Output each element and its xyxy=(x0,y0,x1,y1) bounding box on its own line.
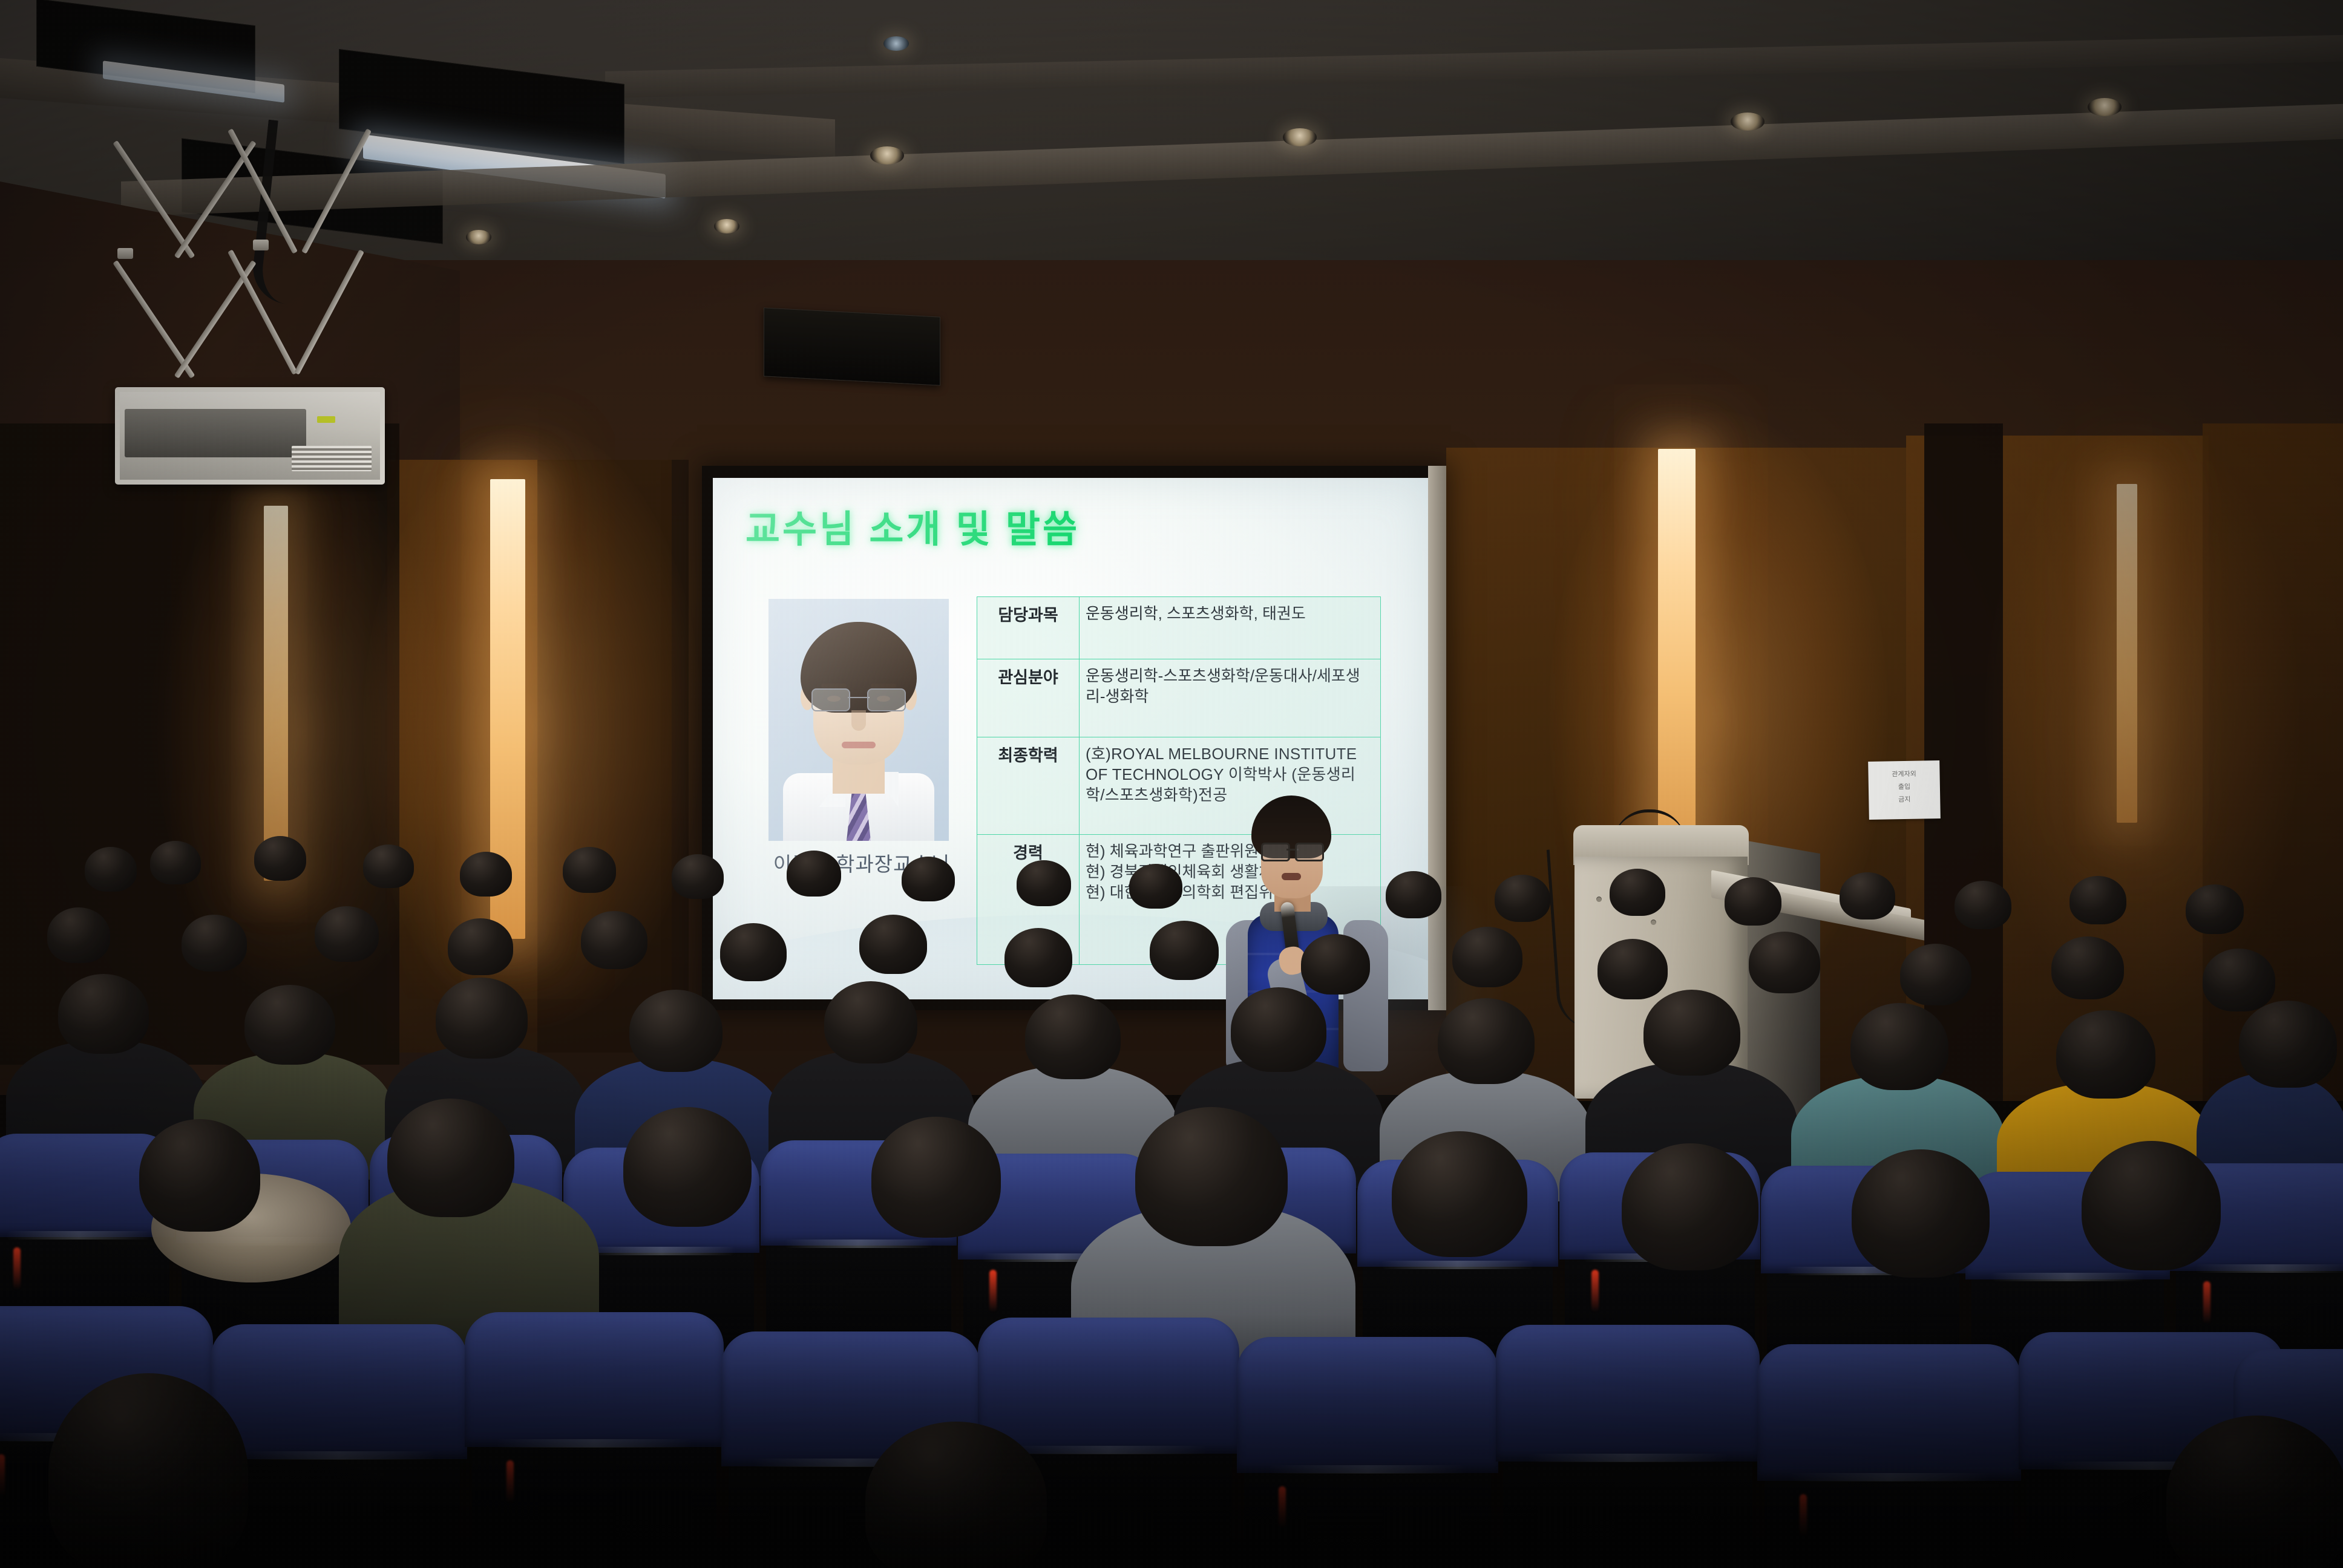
audience-head xyxy=(1597,939,1668,999)
recessed-downlight-icon xyxy=(1283,128,1317,146)
audience-head xyxy=(1749,932,1820,993)
projector-lens-housing xyxy=(125,409,306,457)
audience-head xyxy=(244,985,335,1065)
row-key: 담당과목 xyxy=(977,597,1080,659)
auditorium-seat[interactable] xyxy=(472,1325,716,1568)
audience-head xyxy=(85,847,137,892)
portrait-mouth xyxy=(842,742,876,748)
audience-head xyxy=(1129,864,1182,909)
audience-head xyxy=(1900,944,1971,1005)
recessed-downlight-icon xyxy=(714,219,739,234)
audience-head xyxy=(58,974,149,1054)
audience-head xyxy=(436,978,528,1059)
projector-status-led xyxy=(317,416,335,423)
audience-head xyxy=(2166,1416,2343,1568)
audience-head xyxy=(1495,875,1550,922)
audience-head xyxy=(720,923,787,981)
audience-head xyxy=(1955,881,2011,929)
audience-head xyxy=(1840,872,1895,920)
slide-title: 교수님 소개 및 말씀 xyxy=(745,498,1080,553)
audience-head xyxy=(448,918,513,975)
row-value: 운동생리학-스포츠생화학/운동대사/세포생리-생화학 xyxy=(1080,659,1381,737)
audience-head xyxy=(2056,1010,2155,1099)
audience-head xyxy=(460,852,512,897)
audience-head xyxy=(1438,998,1535,1084)
audience-head xyxy=(1386,871,1441,918)
recessed-downlight-icon xyxy=(883,36,909,51)
audience-head xyxy=(1231,987,1326,1072)
audience-head xyxy=(824,981,917,1063)
recessed-downlight-icon xyxy=(870,146,904,165)
row-key: 관심분야 xyxy=(977,659,1080,737)
audience xyxy=(0,756,2343,1568)
ceiling-beam xyxy=(605,35,2343,98)
audience-head xyxy=(2239,1001,2337,1088)
audience-head xyxy=(1622,1143,1758,1270)
audience-head xyxy=(315,906,379,962)
auditorium-seat[interactable] xyxy=(1244,1350,1491,1568)
audience-head xyxy=(623,1107,752,1227)
audience-head xyxy=(1725,877,1781,926)
audience-head xyxy=(1610,869,1665,916)
audience-head xyxy=(1017,860,1071,906)
projector-vent xyxy=(292,446,372,471)
audience-head xyxy=(1150,921,1219,980)
audience-head xyxy=(363,844,414,888)
audience-head xyxy=(2186,884,2244,934)
audience-head xyxy=(254,836,306,881)
projector-body xyxy=(115,387,385,485)
audience-head xyxy=(902,857,955,901)
audience-head xyxy=(48,1373,248,1568)
audience-head xyxy=(2082,1141,2221,1270)
audience-head xyxy=(387,1099,514,1217)
audience-head xyxy=(150,841,201,884)
audience-head xyxy=(1643,990,1740,1076)
ceiling-projector xyxy=(109,121,448,496)
auditorium-scene: 교수님 소개 및 말씀 xyxy=(0,0,2343,1568)
portrait-glasses-icon xyxy=(811,688,906,710)
recessed-downlight-icon xyxy=(466,230,491,244)
audience-head xyxy=(139,1119,260,1232)
audience-head xyxy=(629,990,723,1072)
audience-head xyxy=(859,915,927,974)
portrait-nose xyxy=(851,710,866,731)
audience-head xyxy=(581,911,647,969)
recessed-downlight-icon xyxy=(1731,113,1765,131)
audience-head xyxy=(1301,934,1370,995)
audience-head xyxy=(1850,1003,1948,1090)
recessed-downlight-icon xyxy=(2088,98,2122,116)
audience-head xyxy=(1852,1149,1990,1278)
audience-head xyxy=(1452,927,1522,987)
audience-head xyxy=(2203,949,2275,1011)
audience-head xyxy=(1004,928,1072,987)
audience-head xyxy=(2051,936,2124,999)
scissor-lift-mount xyxy=(109,121,448,405)
audience-head xyxy=(1392,1131,1527,1257)
table-row: 담당과목 운동생리학, 스포츠생화학, 태권도 xyxy=(977,597,1381,659)
audience-head xyxy=(787,851,841,897)
audience-head xyxy=(1135,1107,1288,1246)
portrait-eyebrow xyxy=(821,684,847,688)
auditorium-seat[interactable] xyxy=(1503,1338,1752,1568)
auditorium-seat[interactable] xyxy=(218,1337,460,1568)
audience-head xyxy=(563,847,616,893)
wall-speaker xyxy=(764,307,940,385)
portrait-eyebrow xyxy=(871,684,896,688)
audience-head xyxy=(865,1422,1047,1568)
audience-head xyxy=(182,915,247,972)
table-row: 관심분야 운동생리학-스포츠생화학/운동대사/세포생리-생화학 xyxy=(977,659,1381,737)
audience-head xyxy=(2069,876,2126,924)
auditorium-seat[interactable] xyxy=(1765,1357,2014,1568)
audience-head xyxy=(871,1117,1001,1238)
audience-head xyxy=(47,907,110,963)
row-value: 운동생리학, 스포츠생화학, 태권도 xyxy=(1080,597,1381,659)
audience-head xyxy=(672,854,724,899)
audience-head xyxy=(1025,995,1121,1079)
